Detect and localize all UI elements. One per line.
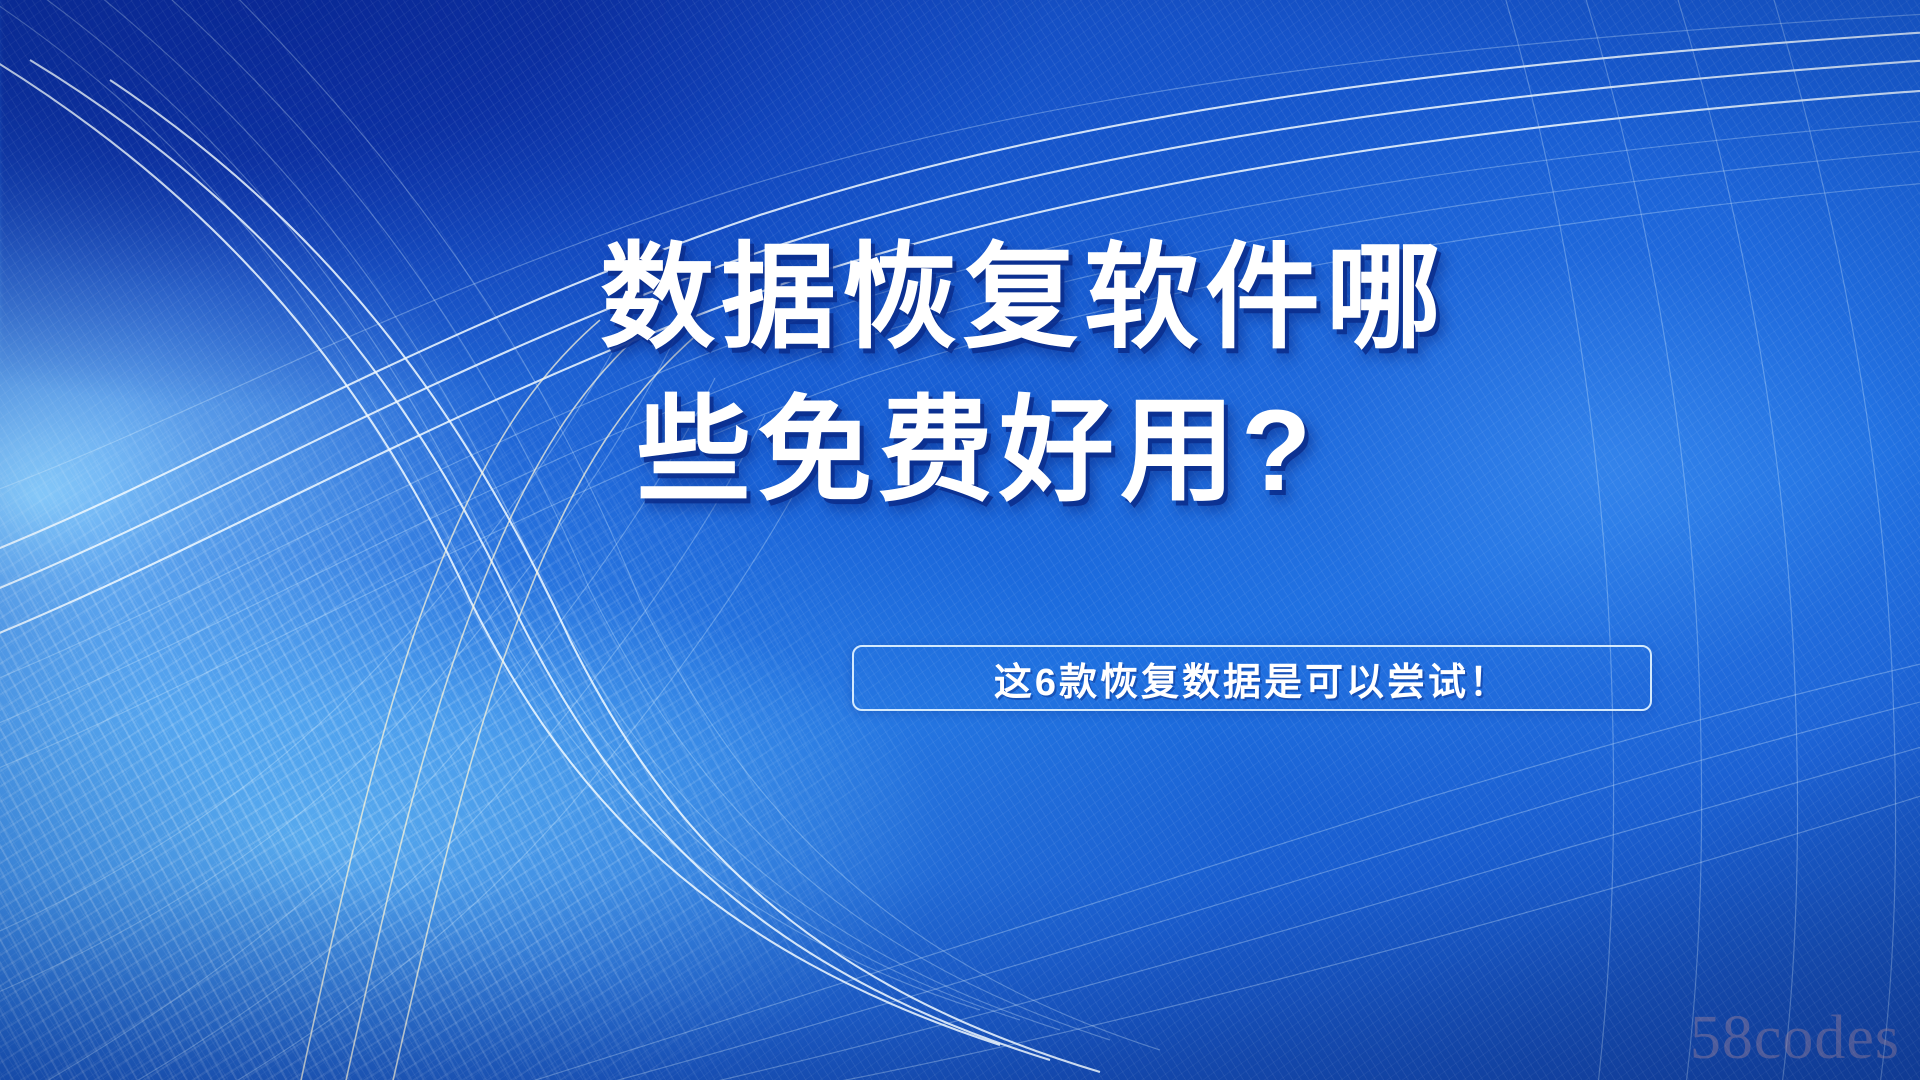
watermark-label: 58codes [1690,1003,1900,1074]
headline-line-2: 些免费好用? [600,375,1720,528]
content-layer: 数据恢复软件哪 些免费好用? 这6款恢复数据是可以尝试！ 58codes [0,0,1920,1080]
headline-block: 数据恢复软件哪 些免费好用? [600,222,1720,528]
headline-line-1: 数据恢复软件哪 [600,222,1720,375]
subtitle-pill: 这6款恢复数据是可以尝试！ [852,645,1652,711]
subtitle-text: 这6款恢复数据是可以尝试！ [994,651,1510,706]
promo-banner: 数据恢复软件哪 些免费好用? 这6款恢复数据是可以尝试！ 58codes [0,0,1920,1080]
